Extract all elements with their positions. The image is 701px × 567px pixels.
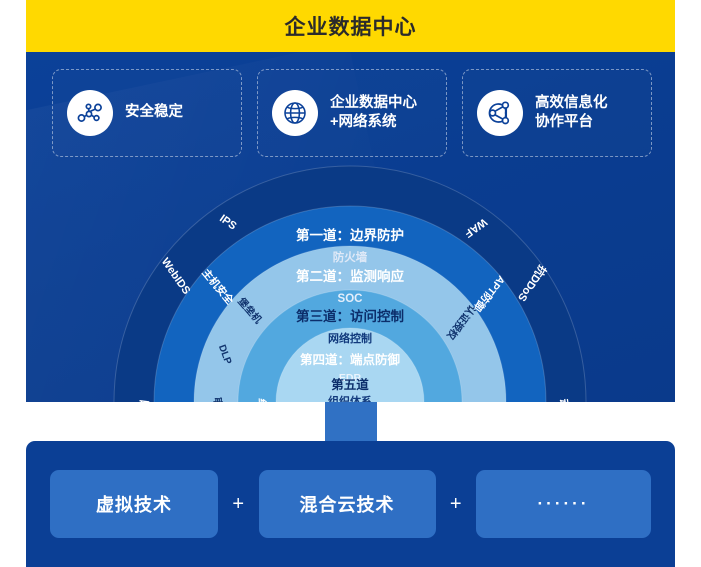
plus-separator-2: + [443,493,469,516]
defense-rings-diagram: 第一道：边界防护防火墙第二道：监测响应SOC第三道：访问控制网络控制第四道：端点… [26,160,675,402]
technology-panel: 虚拟技术 + 混合云技术 + ······ [26,441,675,567]
technology-row: 虚拟技术 + 混合云技术 + ······ [50,470,651,538]
ring-title-3: 第三道：访问控制 [296,308,404,324]
arc-side-label-14: 审计 [211,397,225,402]
ring-title-2: 第二道：监测响应 [296,268,404,284]
network-nodes-icon [67,90,113,136]
section-connector [325,402,377,446]
feature-card-label: 安全稳定 [125,103,183,122]
plus-separator-1: + [225,493,251,516]
ring-subtitle-3: 网络控制 [328,331,372,345]
share-nodes-icon [477,90,523,136]
tech-box-more[interactable]: ······ [476,470,651,538]
tech-box-virtualization[interactable]: 虚拟技术 [50,470,218,538]
globe-icon [272,90,318,136]
ring-title-5: 第五道 [331,377,369,392]
ring-subtitle-1: 防火墙 [333,250,368,264]
ring-title-1: 第一道：边界防护 [296,227,404,243]
feature-card-collaboration[interactable]: 高效信息化 协作平台 [462,69,652,157]
page-title: 企业数据中心 [285,11,417,41]
feature-card-security[interactable]: 安全稳定 [52,69,242,157]
feature-cards-row: 安全稳定 企业数据中心 [52,69,652,157]
feature-card-label: 高效信息化 协作平台 [535,94,608,132]
ring-title-4: 第四道：端点防御 [300,352,401,367]
ring-subtitle-2: SOC [338,293,363,305]
feature-label-line2: 协作平台 [535,113,608,132]
feature-label-line2: +网络系统 [330,113,417,132]
defense-rings-svg: 第一道：边界防护防火墙第二道：监测响应SOC第三道：访问控制网络控制第四道：端点… [26,160,675,402]
infographic-page: 企业数据中心 [0,0,701,567]
header-band: 企业数据中心 [26,0,675,52]
ring-subtitle-5: 组织体系 [328,394,372,402]
feature-card-label: 企业数据中心 +网络系统 [330,94,417,132]
feature-label-line1: 企业数据中心 [330,94,417,113]
feature-label-line1: 高效信息化 [535,94,608,113]
tech-box-hybrid-cloud[interactable]: 混合云技术 [259,470,436,538]
feature-label-text: 安全稳定 [125,104,183,120]
feature-card-datacenter-network[interactable]: 企业数据中心 +网络系统 [257,69,447,157]
main-panel: 安全稳定 企业数据中心 [26,52,675,402]
